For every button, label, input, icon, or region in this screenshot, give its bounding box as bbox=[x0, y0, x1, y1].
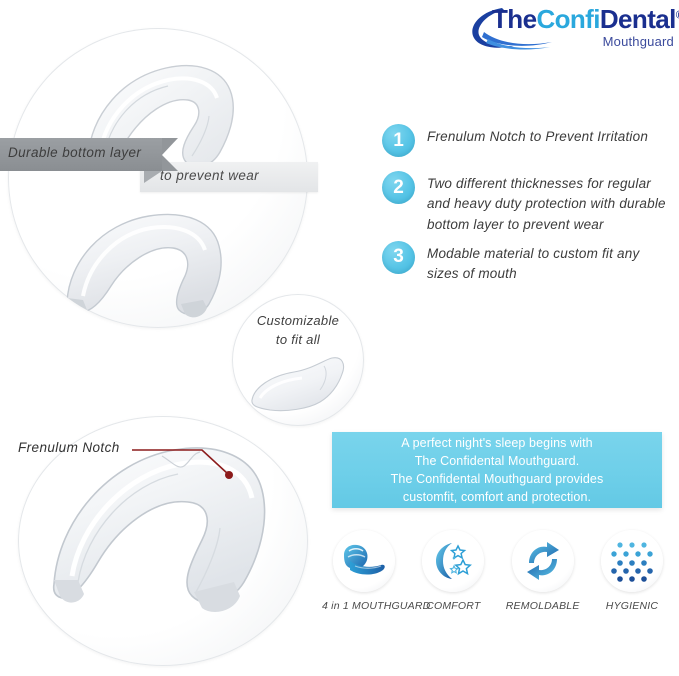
customizable-caption: Customizable to fit all bbox=[240, 312, 356, 350]
moon-stars-icon bbox=[432, 540, 474, 582]
feature-item-3: 3 Modable material to custom fit any siz… bbox=[382, 241, 674, 285]
logo-wordmark: TheConfiDental® bbox=[492, 6, 679, 32]
banner-lower-label: to prevent wear bbox=[160, 168, 310, 183]
icon-caption: REMOLDABLE bbox=[501, 600, 585, 612]
feature-number-badge: 2 bbox=[382, 171, 415, 204]
feature-item-1: 1 Frenulum Notch to Prevent Irritation bbox=[382, 124, 674, 157]
feature-text: Modable material to custom fit any sizes… bbox=[427, 241, 674, 285]
icon-disc bbox=[422, 530, 484, 592]
feature-text: Two different thicknesses for regular an… bbox=[427, 171, 674, 235]
icon-caption: COMFORT bbox=[411, 600, 495, 612]
icon-item-hygienic: HYGIENIC bbox=[590, 530, 674, 612]
icon-item-comfort: COMFORT bbox=[411, 530, 495, 612]
feature-number-badge: 1 bbox=[382, 124, 415, 157]
frenulum-pointer-line-icon bbox=[130, 432, 248, 488]
durable-layer-banner: Durable bottom layer to prevent wear bbox=[0, 138, 318, 194]
promo-message-box: A perfect night's sleep begins with The … bbox=[332, 432, 662, 508]
icon-disc bbox=[512, 530, 574, 592]
mouthguard-stack-icon bbox=[341, 541, 387, 581]
promo-message-text: A perfect night's sleep begins with The … bbox=[391, 434, 604, 507]
feature-icon-strip: 4 in 1 MOUTHGUARD COMFORT bbox=[322, 530, 674, 636]
frenulum-callout: Frenulum Notch bbox=[18, 432, 248, 492]
logo-word-dental: Dental bbox=[600, 4, 676, 34]
logo-word-confi: Confi bbox=[536, 4, 599, 34]
refresh-arrows-icon bbox=[521, 539, 565, 583]
feature-list: 1 Frenulum Notch to Prevent Irritation 2… bbox=[382, 124, 674, 298]
frenulum-label: Frenulum Notch bbox=[18, 440, 120, 455]
logo-subtitle: Mouthguard bbox=[603, 34, 674, 49]
feature-item-2: 2 Two different thicknesses for regular … bbox=[382, 171, 674, 235]
infographic-canvas: TheConfiDental® Mouthguard bbox=[0, 0, 679, 676]
icon-disc bbox=[333, 530, 395, 592]
logo-word-the: The bbox=[492, 4, 536, 34]
brand-logo: TheConfiDental® Mouthguard bbox=[468, 2, 676, 54]
banner-upper-label: Durable bottom layer bbox=[8, 145, 183, 160]
icon-item-mouthguard: 4 in 1 MOUTHGUARD bbox=[322, 530, 406, 612]
icon-item-remoldable: REMOLDABLE bbox=[501, 530, 585, 612]
icon-caption: 4 in 1 MOUTHGUARD bbox=[322, 600, 406, 612]
icon-caption: HYGIENIC bbox=[590, 600, 674, 612]
feature-text: Frenulum Notch to Prevent Irritation bbox=[427, 124, 648, 147]
feature-number-badge: 3 bbox=[382, 241, 415, 274]
mouthguard-customizable-photo bbox=[246, 352, 354, 418]
icon-disc bbox=[601, 530, 663, 592]
dot-grid-icon bbox=[609, 539, 655, 583]
mouthguard-lower-photo bbox=[53, 206, 253, 326]
